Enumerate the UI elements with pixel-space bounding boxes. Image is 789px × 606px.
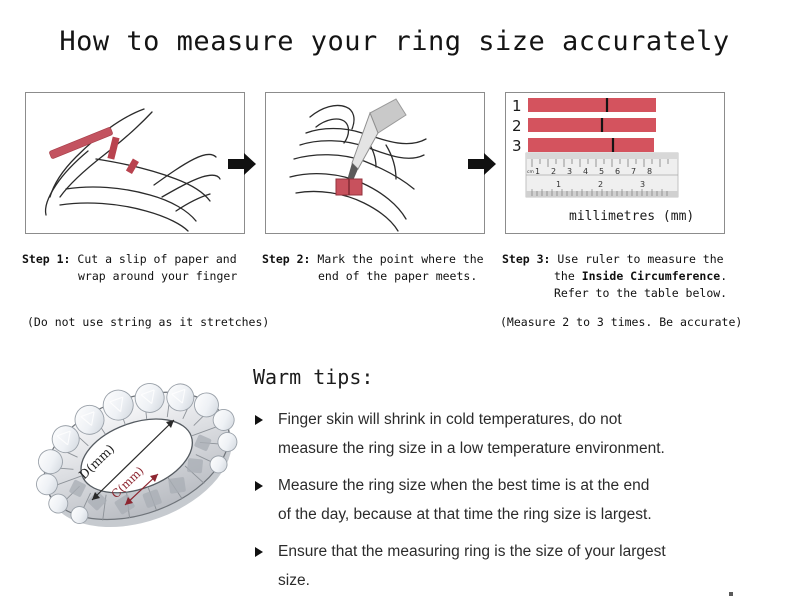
strip-number-3: 3 xyxy=(512,137,522,155)
step-1-line2: wrap around your finger xyxy=(22,268,258,285)
hand-with-paper-strip-icon xyxy=(26,93,244,233)
step-2-line2: end of the paper meets. xyxy=(262,268,498,285)
warm-tip-3-line1: Ensure that the measuring ring is the si… xyxy=(278,543,666,560)
warm-tip-item: Measure the ring size when the best time… xyxy=(253,471,773,529)
step-3-line2-suffix: . xyxy=(720,269,727,283)
ring-diameter-circumference-figure: D(mm) C(mm) xyxy=(24,352,249,557)
image-artifact xyxy=(729,592,733,596)
strip-number-2: 2 xyxy=(512,117,522,135)
svg-text:3: 3 xyxy=(567,167,572,176)
step-2-caption: Step 2: Mark the point where the end of … xyxy=(262,251,498,285)
gemstone-eternity-ring-illustration: D(mm) C(mm) xyxy=(24,352,249,557)
step-3-illustration-panel: 1 2 3 xyxy=(505,92,725,234)
warm-tip-2-line2: of the day, because at that time the rin… xyxy=(278,506,652,523)
svg-text:1: 1 xyxy=(556,180,561,189)
ruler-with-paper-strips-icon: 1 2 3 xyxy=(506,93,724,233)
warm-tip-3-line2: size. xyxy=(278,572,310,589)
warm-tips-section: Warm tips: Finger skin will shrink in co… xyxy=(253,365,773,603)
step-3-line2: the Inside Circumference. xyxy=(502,268,762,285)
svg-text:2: 2 xyxy=(551,167,556,176)
svg-text:3: 3 xyxy=(640,180,645,189)
step-3-caption: Step 3: Use ruler to measure the the Ins… xyxy=(502,251,762,302)
step-3-label: Step 3: xyxy=(502,252,550,266)
svg-text:4: 4 xyxy=(583,167,588,176)
step-1-note: (Do not use string as it stretches) xyxy=(27,315,269,329)
warm-tip-2-line1: Measure the ring size when the best time… xyxy=(278,477,649,494)
warm-tip-1-line1: Finger skin will shrink in cold temperat… xyxy=(278,411,622,428)
strip-number-1: 1 xyxy=(512,97,522,115)
warm-tip-1-line2: measure the ring size in a low temperatu… xyxy=(278,440,665,457)
step-2-label: Step 2: xyxy=(262,252,310,266)
step-3-note: (Measure 2 to 3 times. Be accurate) xyxy=(500,315,742,329)
svg-text:2: 2 xyxy=(598,180,603,189)
step-2-illustration-panel xyxy=(265,92,485,234)
step-3-line1: Use ruler to measure the xyxy=(550,252,723,266)
svg-text:cm: cm xyxy=(527,170,534,175)
step-3-line3: Refer to the table below. xyxy=(502,285,762,302)
triangle-bullet-icon xyxy=(255,547,263,557)
hand-with-pen-marking-icon xyxy=(266,93,484,233)
warm-tip-item: Ensure that the measuring ring is the si… xyxy=(253,537,773,595)
step-1-illustration-panel xyxy=(25,92,245,234)
step-3-line2-prefix: the xyxy=(554,269,582,283)
svg-text:6: 6 xyxy=(615,167,620,176)
warm-tip-item: Finger skin will shrink in cold temperat… xyxy=(253,405,773,463)
arrow-step2-to-step3-icon xyxy=(468,152,496,176)
step-1-caption: Step 1: Cut a slip of paper and wrap aro… xyxy=(22,251,258,285)
svg-text:7: 7 xyxy=(631,167,636,176)
step-2-line1: Mark the point where the xyxy=(310,252,483,266)
warm-tips-heading: Warm tips: xyxy=(253,365,773,389)
svg-text:8: 8 xyxy=(647,167,652,176)
triangle-bullet-icon xyxy=(255,415,263,425)
arrow-step1-to-step2-icon xyxy=(228,152,256,176)
svg-text:5: 5 xyxy=(599,167,604,176)
inside-circumference-emphasis: Inside Circumference xyxy=(582,269,720,283)
svg-text:1: 1 xyxy=(535,167,540,176)
step-1-label: Step 1: xyxy=(22,252,70,266)
step-1-line1: Cut a slip of paper and xyxy=(70,252,236,266)
ruler-unit-caption: millimetres (mm) xyxy=(569,209,694,224)
triangle-bullet-icon xyxy=(255,481,263,491)
